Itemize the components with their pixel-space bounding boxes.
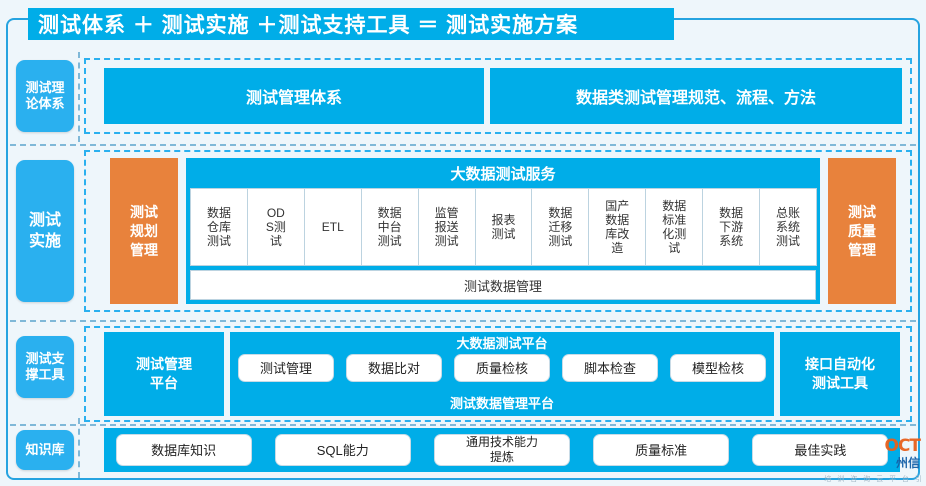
big-data-test-service-panel: 大数据测试服务 数据 仓库 测试OD S测 试ETL数据 中台 测试监管 报送 … xyxy=(186,158,820,304)
row-divider-2 xyxy=(10,320,916,322)
row-divider-3 xyxy=(10,424,916,426)
service-cell-label: OD S测 试 xyxy=(266,206,286,248)
test-planning-management-block[interactable]: 测试 规划 管理 xyxy=(110,158,178,304)
service-cell-label: 数据 中台 测试 xyxy=(378,206,402,248)
service-cell-grid: 数据 仓库 测试OD S测 试ETL数据 中台 测试监管 报送 测试报表 测试数… xyxy=(190,188,816,266)
platform-tool-pill[interactable]: 模型检核 xyxy=(670,354,766,382)
test-management-platform-block[interactable]: 测试管理 平台 xyxy=(104,332,224,416)
platform-tool-pill[interactable]: 数据比对 xyxy=(346,354,442,382)
test-planning-management-label: 测试 规划 管理 xyxy=(130,203,158,260)
knowledge-base-panel: 数据库知识SQL能力通用技术能力 提炼质量标准最佳实践 xyxy=(104,428,900,472)
platform-tool-label: 测试管理 xyxy=(260,361,312,376)
theory-block-2-label: 数据类测试管理规范、流程、方法 xyxy=(576,84,816,108)
platform-tool-list: 测试管理数据比对质量检核脚本检查模型检核 xyxy=(238,353,766,383)
service-cell[interactable]: 数据 仓库 测试 xyxy=(190,188,248,266)
test-quality-management-block[interactable]: 测试 质量 管理 xyxy=(828,158,896,304)
knowledge-item-pill[interactable]: 通用技术能力 提炼 xyxy=(434,434,570,466)
sidebar-item-knowledge-base-label: 知识库 xyxy=(25,442,64,458)
api-automation-tool-block[interactable]: 接口自动化 测试工具 xyxy=(780,332,900,416)
platform-footer: 测试数据管理平台 xyxy=(230,392,774,412)
sidebar-item-theory-label: 测试理 论体系 xyxy=(25,80,64,112)
platform-tool-pill[interactable]: 测试管理 xyxy=(238,354,334,382)
sidebar-item-support-tools[interactable]: 测试支 撑工具 xyxy=(16,336,74,398)
service-cell-label: 数据 迁移 测试 xyxy=(548,206,572,248)
service-cell-label: 总账 系统 测试 xyxy=(776,206,800,248)
big-data-test-service-title: 大数据测试服务 xyxy=(186,158,820,188)
service-cell[interactable]: 总账 系统 测试 xyxy=(759,188,817,266)
theory-block-2[interactable]: 数据类测试管理规范、流程、方法 xyxy=(490,68,902,124)
api-automation-tool-label: 接口自动化 测试工具 xyxy=(805,355,875,393)
service-cell[interactable]: 报表 测试 xyxy=(475,188,533,266)
knowledge-item-pill[interactable]: 质量标准 xyxy=(593,434,729,466)
knowledge-item-label: 最佳实践 xyxy=(794,443,846,458)
platform-tool-pill[interactable]: 质量检核 xyxy=(454,354,550,382)
test-management-platform-label: 测试管理 平台 xyxy=(136,355,192,393)
platform-tool-pill[interactable]: 脚本检查 xyxy=(562,354,658,382)
sidebar-item-theory[interactable]: 测试理 论体系 xyxy=(16,60,74,132)
sidebar-item-implementation[interactable]: 测试 实施 xyxy=(16,160,74,302)
service-cell[interactable]: ETL xyxy=(304,188,362,266)
service-cell[interactable]: 数据 标准 化测 试 xyxy=(645,188,703,266)
service-cell[interactable]: OD S测 试 xyxy=(247,188,305,266)
sidebar-item-implementation-label: 测试 实施 xyxy=(29,210,61,252)
platform-tool-label: 脚本检查 xyxy=(584,361,636,376)
service-cell[interactable]: 数据 下游 系统 xyxy=(702,188,760,266)
big-data-test-platform-panel: 大数据测试平台 测试管理数据比对质量检核脚本检查模型检核 测试数据管理平台 xyxy=(230,332,774,416)
service-cell[interactable]: 数据 迁移 测试 xyxy=(531,188,589,266)
service-cell[interactable]: 数据 中台 测试 xyxy=(361,188,419,266)
test-quality-management-label: 测试 质量 管理 xyxy=(848,203,876,260)
theory-block-1[interactable]: 测试管理体系 xyxy=(104,68,484,124)
knowledge-item-label: 数据库知识 xyxy=(151,443,216,458)
sidebar-item-support-tools-label: 测试支 撑工具 xyxy=(25,351,64,383)
service-cell[interactable]: 监管 报送 测试 xyxy=(418,188,476,266)
platform-tool-label: 数据比对 xyxy=(368,361,420,376)
knowledge-item-pill[interactable]: SQL能力 xyxy=(275,434,411,466)
service-cell-label: 国产 数据 库改 造 xyxy=(605,199,629,255)
sidebar-item-knowledge-base[interactable]: 知识库 xyxy=(16,430,74,470)
service-cell[interactable]: 国产 数据 库改 造 xyxy=(588,188,646,266)
service-footer: 测试数据管理 xyxy=(190,270,816,300)
knowledge-item-label: 通用技术能力 提炼 xyxy=(466,435,538,465)
theory-block-1-label: 测试管理体系 xyxy=(246,84,342,108)
big-data-test-platform-title: 大数据测试平台 xyxy=(230,333,774,351)
platform-tool-label: 模型检核 xyxy=(692,361,744,376)
knowledge-item-pill[interactable]: 数据库知识 xyxy=(116,434,252,466)
service-cell-label: 数据 下游 系统 xyxy=(719,206,743,248)
col-divider-2 xyxy=(78,418,80,478)
row-divider-1 xyxy=(10,144,916,146)
service-cell-label: 数据 仓库 测试 xyxy=(207,206,231,248)
title-banner: 测试体系 ＋ 测试实施 ＋测试支持工具 ＝ 测试实施方案 xyxy=(28,8,674,40)
banner-title: 测试体系 ＋ 测试实施 ＋测试支持工具 ＝ 测试实施方案 xyxy=(28,9,578,39)
col-divider-1 xyxy=(78,52,80,142)
service-cell-label: 报表 测试 xyxy=(491,213,515,241)
platform-tool-label: 质量检核 xyxy=(476,361,528,376)
service-cell-label: ETL xyxy=(322,220,344,234)
knowledge-item-pill[interactable]: 最佳实践 xyxy=(752,434,888,466)
service-cell-label: 数据 标准 化测 试 xyxy=(662,199,686,255)
service-cell-label: 监管 报送 测试 xyxy=(435,206,459,248)
knowledge-item-label: SQL能力 xyxy=(317,443,369,458)
knowledge-item-label: 质量标准 xyxy=(635,443,687,458)
